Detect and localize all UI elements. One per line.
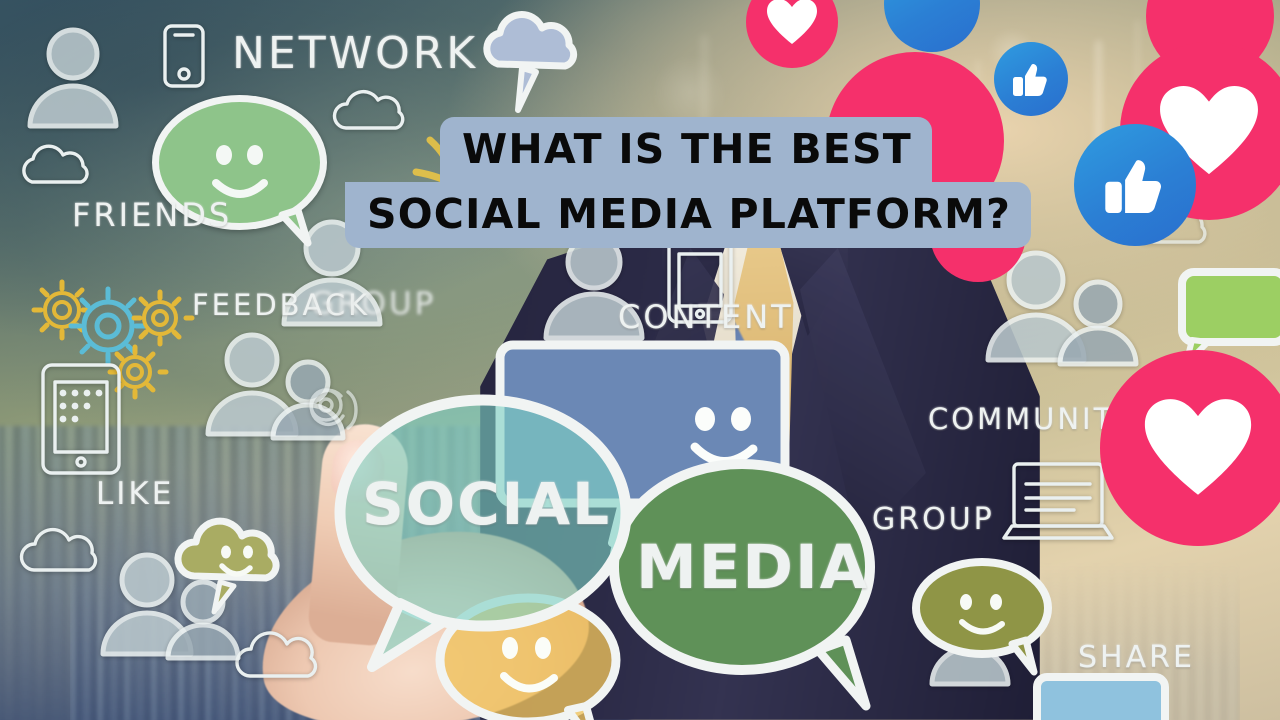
- speech-bubble-blue-small: [1032, 672, 1160, 720]
- headline-line-1: WHAT IS THE BEST: [440, 117, 932, 183]
- social-media-banner-image: MEDIA SOCIAL NETWORK FRIENDS FEEDBACK GR…: [0, 0, 1280, 720]
- speech-bubble-olive-smiley-right: [912, 560, 1042, 650]
- speech-bubble-cloud-blue: [478, 8, 578, 82]
- chalk-word-feedback-ghost: GROUP: [310, 286, 436, 322]
- cloud-icon: [16, 138, 98, 190]
- speech-bubble-olive-smiley-left: [172, 512, 282, 598]
- smartphone-icon: [160, 22, 208, 90]
- speech-bubble-social: SOCIAL: [338, 398, 628, 628]
- chalk-word-share: SHARE: [1078, 640, 1195, 675]
- light-streak: [700, 35, 709, 130]
- person-icon: [18, 22, 128, 132]
- bubble-label-social: SOCIAL: [362, 470, 611, 538]
- tablet-icon: [38, 360, 124, 478]
- chalk-word-like: LIKE: [96, 476, 174, 512]
- chalk-word-network: NETWORK: [232, 28, 478, 79]
- laptop-icon: [1000, 460, 1116, 546]
- chalk-word-content: CONTENT: [618, 298, 794, 336]
- headline-line-2: SOCIAL MEDIA PLATFORM?: [345, 182, 1031, 248]
- like-reaction-icon-large: [1074, 124, 1196, 246]
- like-reaction-icon: [994, 42, 1068, 116]
- speech-bubble-green-tag: [1178, 268, 1278, 348]
- chalk-word-friends: FRIENDS: [72, 196, 232, 234]
